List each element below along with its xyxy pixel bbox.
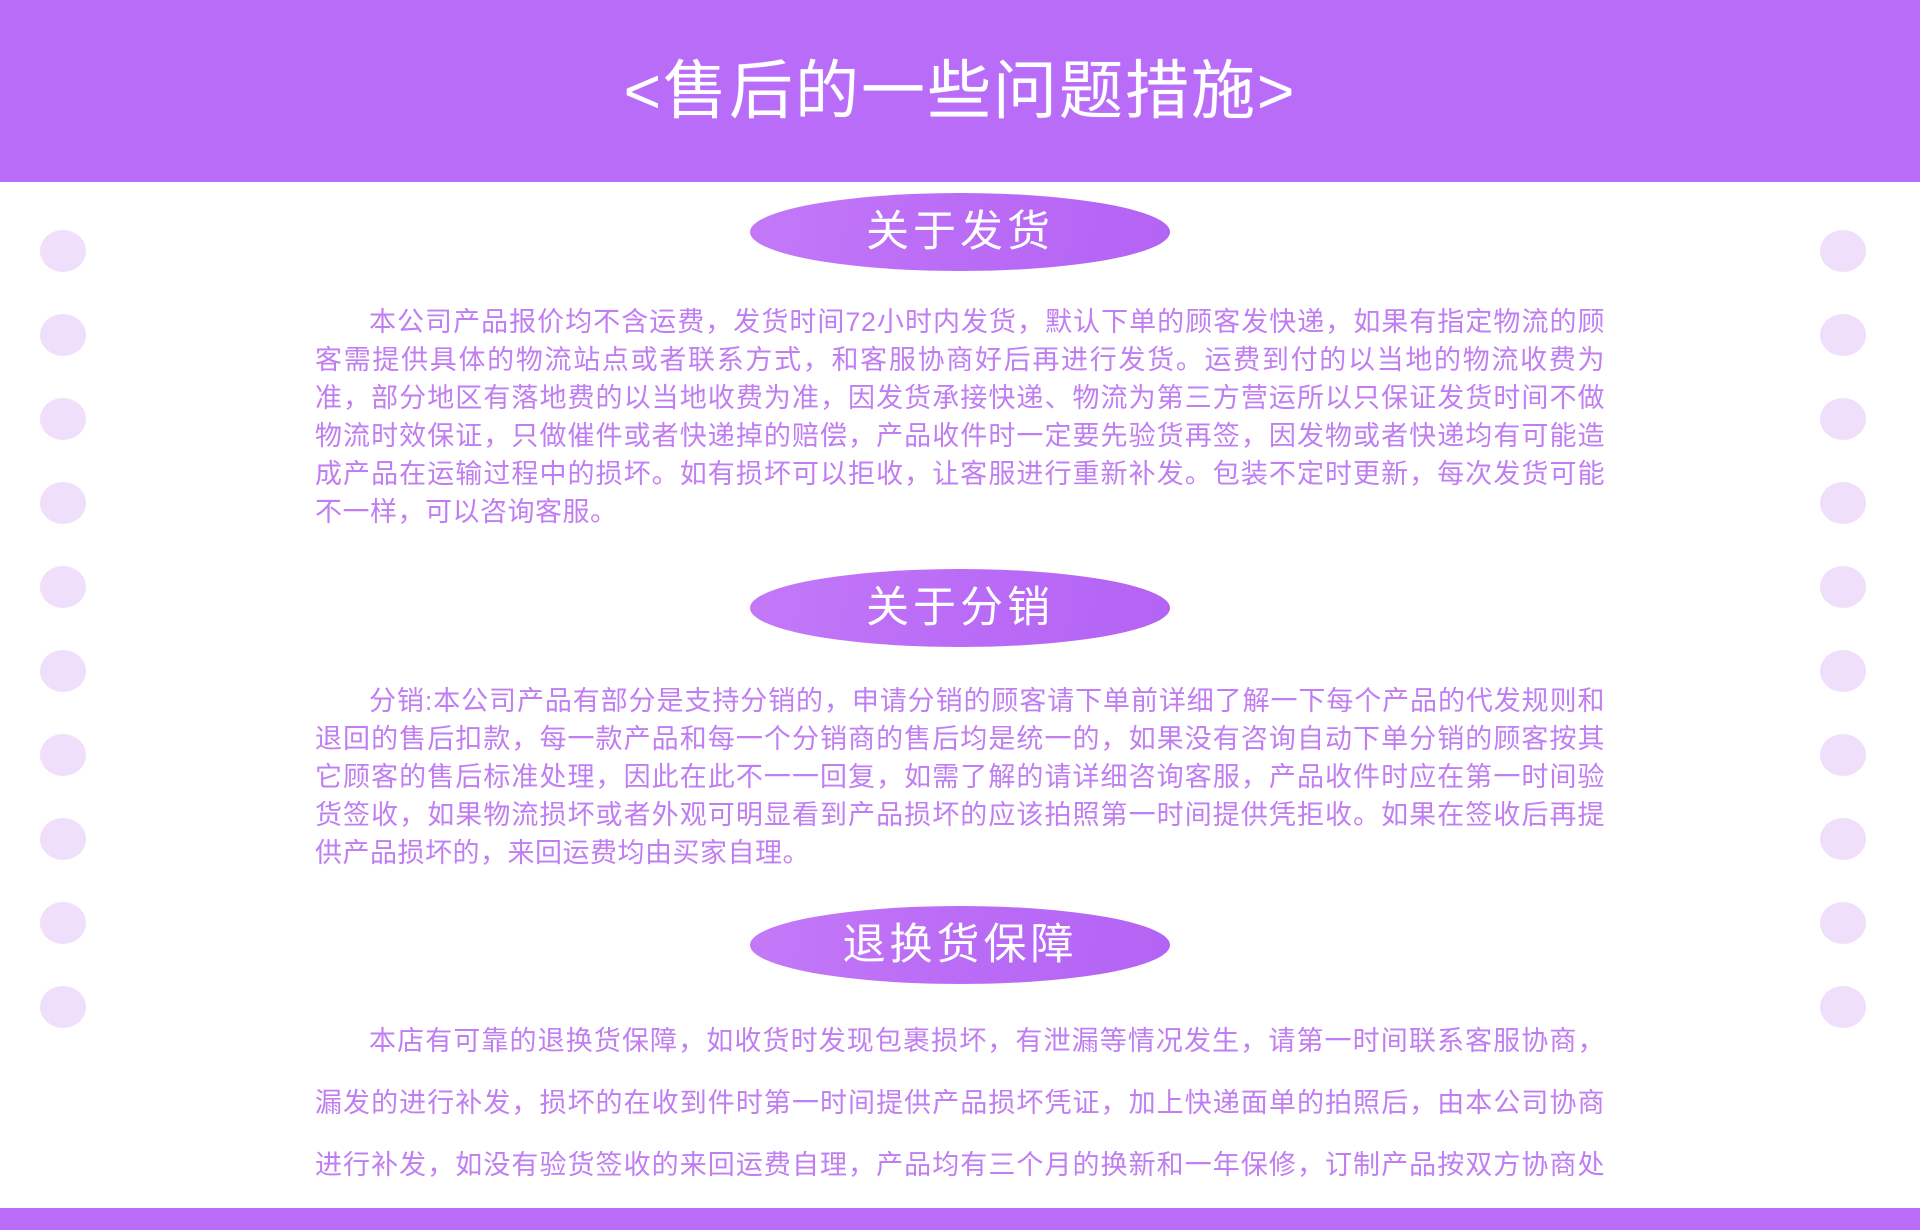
section-pill-shipping: 关于发货 [750, 193, 1170, 271]
page-header-band: <售后的一些问题措施> [0, 0, 1920, 182]
section-pill-distribution: 关于分销 [750, 569, 1170, 647]
section-pill-label: 关于发货 [866, 211, 1054, 254]
section-body-distribution: 分销:本公司产品有部分是支持分销的，申请分销的顾客请下单前详细了解一下每个产品的… [315, 682, 1605, 872]
section-body-shipping: 本公司产品报价均不含运费，发货时间72小时内发货，默认下单的顾客发快递，如果有指… [315, 303, 1605, 531]
page-root: <售后的一些问题措施> 关于发货 本公司产品报价均不含运费，发 [0, 0, 1920, 1230]
content-area: 关于发货 本公司产品报价均不含运费，发货时间72小时内发货，默认下单的顾客发快递… [0, 182, 1920, 1208]
section-pill-returns: 退换货保障 [750, 906, 1170, 984]
section-header-distribution: 关于分销 [0, 569, 1920, 647]
page-title: <售后的一些问题措施> [624, 59, 1297, 123]
section-header-returns: 退换货保障 [0, 906, 1920, 984]
section-pill-label: 退换货保障 [843, 924, 1078, 967]
page-footer-band [0, 1208, 1920, 1230]
section-body-returns: 本店有可靠的退换货保障，如收货时发现包裹损坏，有泄漏等情况发生，请第一时间联系客… [315, 1010, 1605, 1230]
section-pill-label: 关于分销 [866, 587, 1054, 630]
section-header-shipping: 关于发货 [0, 193, 1920, 271]
